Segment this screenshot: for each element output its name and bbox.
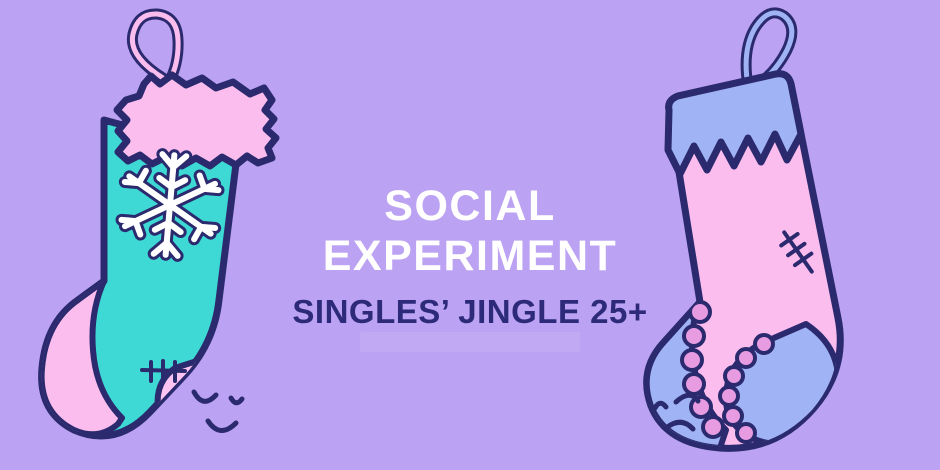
left-stocking-face	[194, 392, 242, 431]
poster-canvas: SOCIAL EXPERIMENT SINGLES’ JINGLE 25+	[0, 0, 940, 470]
left-stocking	[42, 14, 276, 455]
right-stocking	[647, 13, 841, 448]
subtitle-highlight-band	[360, 332, 580, 352]
left-stocking-cuff	[117, 75, 276, 166]
left-stocking-toe	[158, 360, 254, 455]
illustration-layer	[0, 0, 940, 470]
left-stocking-loop-icon	[132, 14, 178, 80]
